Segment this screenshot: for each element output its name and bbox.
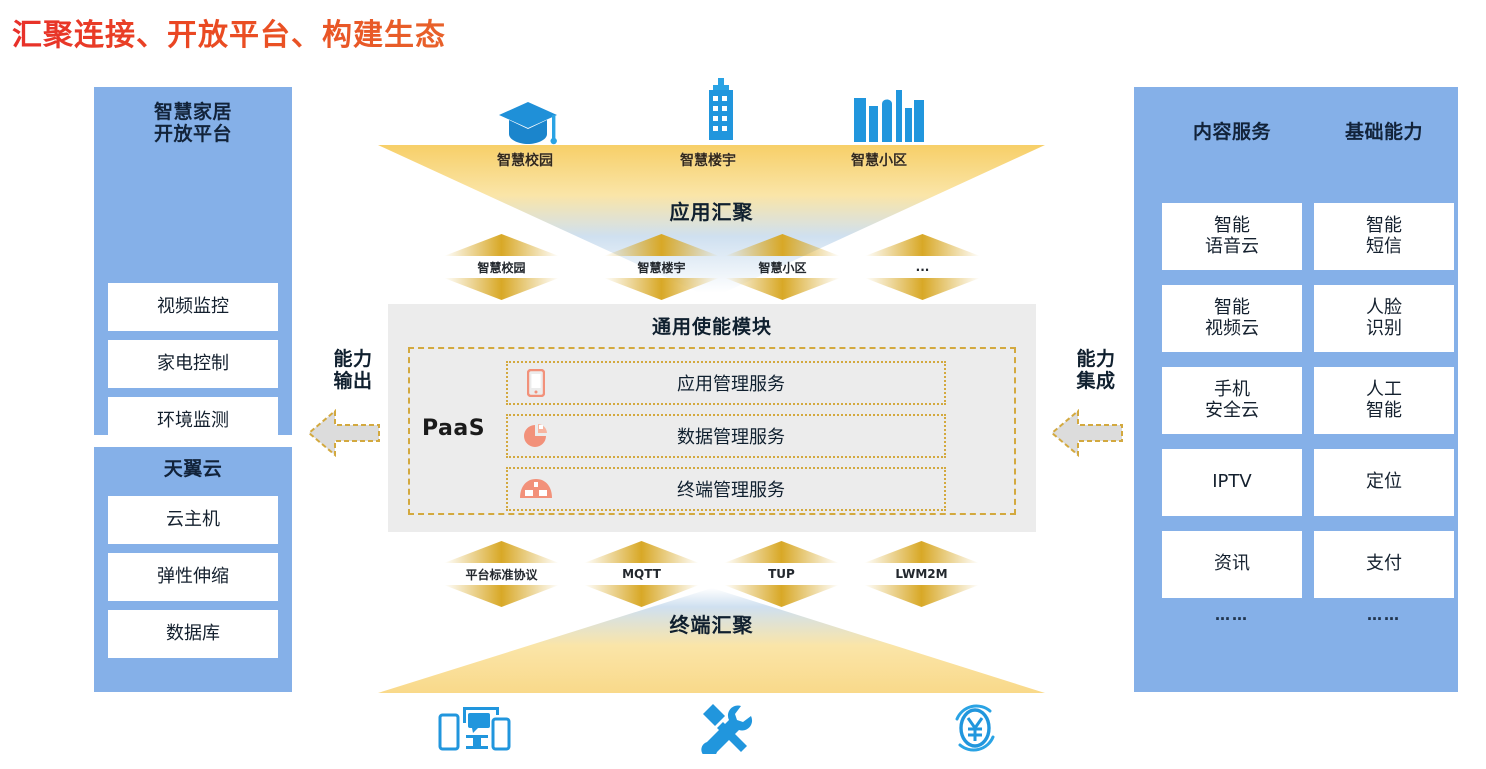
diamond-top-shape [724,541,839,563]
tianyi-cloud-item-0[interactable]: 云主机 [108,496,278,544]
content-services-more: …… [1162,606,1302,624]
capability-output-arrow-group: 能力 输出 [305,348,401,465]
application-aggregation-label: 应用汇聚 [378,196,1045,225]
diamond-bottom-shape [444,278,559,300]
basic-capabilities-item-3-line1: 定位 [1366,472,1402,493]
basic-capabilities-more: …… [1314,606,1454,624]
content-services-item-1-line2: 视频云 [1205,319,1259,340]
app-diamond-0[interactable]: 智慧校园 [444,234,559,300]
basic-capabilities-column: 基础能力 智能 短信 人脸 识别 人工 智能 [1314,87,1454,692]
content-services-item-2[interactable]: 手机 安全云 [1162,367,1302,434]
tools-hammer-wrench-icon [680,700,770,756]
diamond-top-shape [444,234,559,256]
app-diamond-1[interactable]: 智慧楼宇 [604,234,719,300]
yen-currency-icon [930,700,1020,756]
diamond-top-shape [864,541,979,563]
diamond-bottom-shape [865,278,980,300]
smart-home-title-line1: 智慧家居 [94,101,292,123]
basic-capabilities-item-2[interactable]: 人工 智能 [1314,367,1454,434]
app-diamond-2-label: 智慧小区 [725,256,840,278]
content-services-item-2-line2: 安全云 [1205,401,1259,422]
diamond-top-shape [444,541,559,563]
multi-device-icon [430,700,520,756]
diagram-canvas: 汇聚连接、开放平台、构建生态 智慧家居 开放平台 视频监控 家电控制 环境监测 … [0,0,1486,769]
content-services-item-1-line1: 智能 [1205,298,1259,319]
content-services-title: 内容服务 [1162,121,1302,143]
scene-label-2: 智慧小区 [851,150,907,170]
diamond-top-shape [604,234,719,256]
app-diamond-3-label: ... [865,256,980,278]
city-skyline-icon [844,82,934,142]
common-enablement-module-block: 通用使能模块 PaaS 应用管理服务 数据管理服务 [388,304,1036,532]
app-diamond-1-label: 智慧楼宇 [604,256,719,278]
protocol-diamond-2-label: TUP [724,563,839,585]
app-diamond-2[interactable]: 智慧小区 [725,234,840,300]
left-arrow-icon [305,405,401,465]
diamond-top-shape [584,541,699,563]
service-label-app-management: 应用管理服务 [564,370,944,396]
smart-home-item-1[interactable]: 家电控制 [108,340,278,388]
tianyi-cloud-item-2[interactable]: 数据库 [108,610,278,658]
smart-home-item-0[interactable]: 视频监控 [108,283,278,331]
tianyi-cloud-item-1[interactable]: 弹性伸缩 [108,553,278,601]
smart-home-platform-panel: 智慧家居 开放平台 视频监控 家电控制 环境监测 智能安防 [94,87,292,435]
smart-home-item-2[interactable]: 环境监测 [108,397,278,445]
service-label-data-management: 数据管理服务 [564,423,944,449]
basic-capabilities-item-4[interactable]: 支付 [1314,531,1454,598]
basic-capabilities-item-0-line2: 短信 [1366,237,1402,258]
smart-home-panel-title: 智慧家居 开放平台 [94,101,292,146]
common-enablement-module-title: 通用使能模块 [388,312,1036,339]
capability-integration-label: 能力 集成 [1048,348,1144,393]
terminal-aggregation-label: 终端汇聚 [378,609,1045,638]
paas-label: PaaS [422,416,485,441]
capability-integration-arrow-group: 能力 集成 [1048,348,1144,465]
capability-output-label: 能力 输出 [305,348,401,393]
content-services-item-2-line1: 手机 [1205,380,1259,401]
app-diamond-3[interactable]: ... [865,234,980,300]
app-diamond-0-label: 智慧校园 [444,256,559,278]
capability-output-line1: 能力 [305,348,401,370]
diamond-bottom-shape [604,278,719,300]
content-services-item-4-line1: 资讯 [1214,554,1250,575]
content-services-item-1[interactable]: 智能 视频云 [1162,285,1302,352]
smart-home-title-line2: 开放平台 [94,123,292,145]
scene-label-1: 智慧楼宇 [680,150,736,170]
content-services-item-0-line1: 智能 [1205,216,1259,237]
service-label-terminal-management: 终端管理服务 [564,476,944,502]
diamond-bottom-shape [725,278,840,300]
basic-capabilities-item-0-line1: 智能 [1366,216,1402,237]
basic-capabilities-item-3[interactable]: 定位 [1314,449,1454,516]
terminal-aggregation-funnel [378,588,1045,693]
content-services-item-3[interactable]: IPTV [1162,449,1302,516]
capabilities-panel: 内容服务 智能 语音云 智能 视频云 手机 安全云 [1134,87,1458,692]
left-arrow-icon [1048,405,1144,465]
basic-capabilities-item-0[interactable]: 智能 短信 [1314,203,1454,270]
protocol-diamond-3-label: LWM2M [864,563,979,585]
protocol-diamond-0-label: 平台标准协议 [444,563,559,585]
office-building-icon [676,80,766,140]
content-services-column: 内容服务 智能 语音云 智能 视频云 手机 安全云 [1162,87,1302,692]
mobile-phone-icon [508,369,564,397]
graduation-cap-icon [483,88,573,148]
content-services-item-4[interactable]: 资讯 [1162,531,1302,598]
scene-label-0: 智慧校园 [497,150,553,170]
diamond-top-shape [725,234,840,256]
gateway-dome-icon [508,478,564,500]
basic-capabilities-item-2-line2: 智能 [1366,401,1402,422]
capability-integration-line2: 集成 [1048,370,1144,392]
capability-output-line2: 输出 [305,370,401,392]
basic-capabilities-item-2-line1: 人工 [1366,380,1402,401]
content-services-item-0-line2: 语音云 [1205,237,1259,258]
service-row-terminal-management[interactable]: 终端管理服务 [506,467,946,511]
pie-chart-icon [508,422,564,450]
content-services-item-3-line1: IPTV [1212,472,1251,493]
basic-capabilities-item-1[interactable]: 人脸 识别 [1314,285,1454,352]
basic-capabilities-title: 基础能力 [1314,121,1454,143]
tianyi-cloud-panel: 天翼云 云主机 弹性伸缩 数据库 [94,447,292,692]
content-services-item-0[interactable]: 智能 语音云 [1162,203,1302,270]
basic-capabilities-item-1-line2: 识别 [1366,319,1402,340]
page-title: 汇聚连接、开放平台、构建生态 [12,10,446,54]
protocol-diamond-1-label: MQTT [584,563,699,585]
basic-capabilities-item-1-line1: 人脸 [1366,298,1402,319]
service-row-app-management[interactable]: 应用管理服务 [506,361,946,405]
capability-integration-line1: 能力 [1048,348,1144,370]
service-row-data-management[interactable]: 数据管理服务 [506,414,946,458]
diamond-top-shape [865,234,980,256]
tianyi-cloud-panel-title: 天翼云 [94,458,292,480]
basic-capabilities-item-4-line1: 支付 [1366,554,1402,575]
